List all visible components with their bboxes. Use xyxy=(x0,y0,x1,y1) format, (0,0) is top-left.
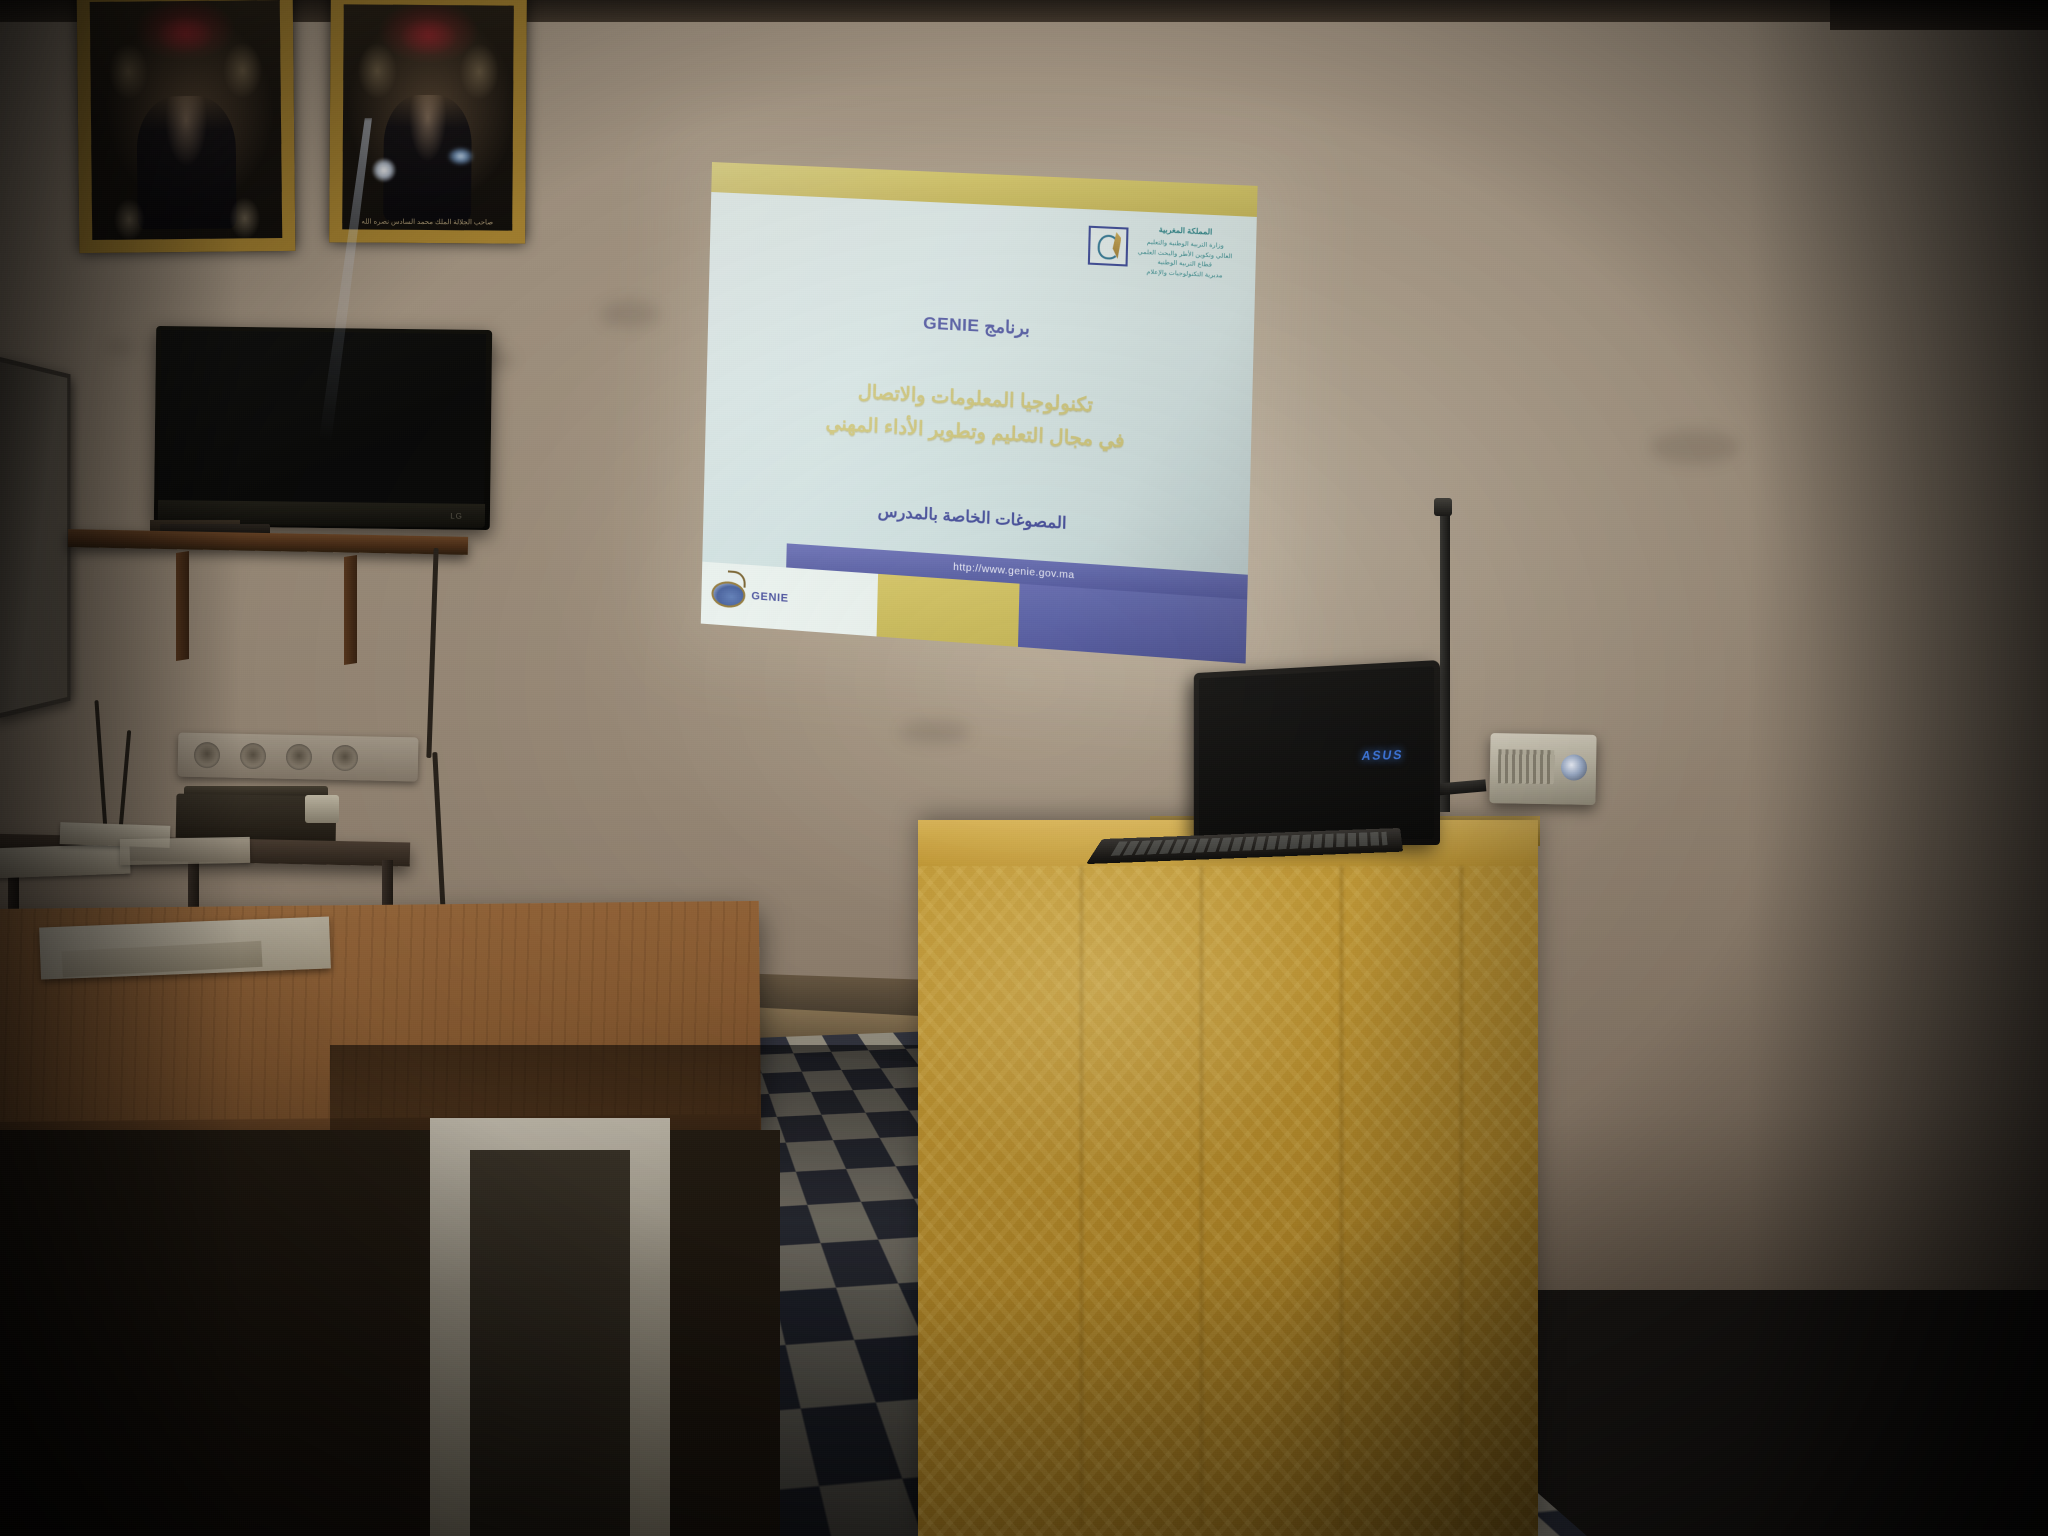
slide-program-line: برنامج GENIE xyxy=(708,302,1254,352)
gold-table-cloth xyxy=(918,820,1538,1536)
projector-stand-pole xyxy=(1440,512,1450,812)
cloth-fold xyxy=(1080,866,1083,1526)
whiteboard xyxy=(0,355,71,720)
paper-stack xyxy=(0,844,130,879)
shelf-bracket xyxy=(344,555,357,665)
projected-presentation-slide: المملكة المغربية وزارة التربية الوطنية و… xyxy=(701,162,1258,664)
photo-scene: صاحب الجلالة الملك محمد السادس نصره الله… xyxy=(0,0,2048,1536)
projector-vent xyxy=(1498,749,1555,784)
laptop[interactable]: ASUS xyxy=(1110,660,1440,875)
wall-socket-strip[interactable] xyxy=(178,732,419,781)
laptop-brand-badge: ASUS xyxy=(1361,747,1405,763)
cloth-fold xyxy=(1340,866,1343,1526)
cloth-fold xyxy=(1200,866,1203,1526)
genie-logo-text: GENIE xyxy=(751,590,789,605)
video-projector[interactable] xyxy=(1489,733,1596,805)
ceiling-strip xyxy=(0,0,2048,22)
laptop-keyboard[interactable] xyxy=(1086,828,1403,864)
wall-mark xyxy=(600,300,660,328)
ceiling-corner xyxy=(1830,0,2048,30)
slide-title: تكنولوجيا المعلومات والاتصال في مجال الت… xyxy=(705,368,1252,467)
portrait-throne xyxy=(111,172,264,240)
wall-mounted-tv[interactable]: LG xyxy=(154,326,492,530)
stand-knob[interactable] xyxy=(1434,498,1452,516)
power-adapter xyxy=(305,795,339,823)
socket-outlet[interactable] xyxy=(286,744,313,771)
tv-screen xyxy=(159,330,486,504)
framed-portrait-left xyxy=(77,0,296,253)
computer-mouse-icon xyxy=(711,580,746,608)
paper-stack xyxy=(120,837,250,865)
socket-outlet[interactable] xyxy=(332,745,359,772)
slide-subtitle: المصوغات الخاصة بالمدرس xyxy=(704,490,1250,546)
socket-outlet[interactable] xyxy=(240,743,267,770)
slide-surface: المملكة المغربية وزارة التربية الوطنية و… xyxy=(701,162,1258,664)
laptop-lid: ASUS xyxy=(1194,660,1440,845)
ministry-emblem-icon xyxy=(1088,226,1129,267)
socket-outlet[interactable] xyxy=(194,742,221,769)
wall-mark xyxy=(1650,430,1740,464)
ministry-text-block: المملكة المغربية وزارة التربية الوطنية و… xyxy=(1137,224,1233,282)
genie-logo: GENIE xyxy=(701,562,878,637)
footer-yellow-block xyxy=(876,574,1019,647)
portrait-caption: صاحب الجلالة الملك محمد السادس نصره الله xyxy=(342,217,512,226)
wall-mark xyxy=(105,340,135,354)
glass-reflection xyxy=(448,147,474,165)
shelf-bracket xyxy=(176,551,189,661)
cloth-fold xyxy=(1460,866,1463,1526)
projector-lens xyxy=(1561,754,1587,780)
ministry-kingdom-line: المملكة المغربية xyxy=(1138,224,1233,238)
keyboard-keys[interactable] xyxy=(1111,832,1388,856)
beam-highlight xyxy=(372,158,396,182)
tv-brand-label: LG xyxy=(450,512,463,521)
foreground-chair-shadow xyxy=(470,1150,630,1536)
ministry-header: المملكة المغربية وزارة التربية الوطنية و… xyxy=(1088,222,1233,282)
slide-url-text: http://www.genie.gov.ma xyxy=(953,561,1075,581)
portrait-image: صاحب الجلالة الملك محمد السادس نصره الله xyxy=(342,4,514,230)
framed-portrait-right: صاحب الجلالة الملك محمد السادس نصره الله xyxy=(329,0,527,244)
wall-mark xyxy=(900,720,970,744)
portrait-image xyxy=(90,0,282,240)
